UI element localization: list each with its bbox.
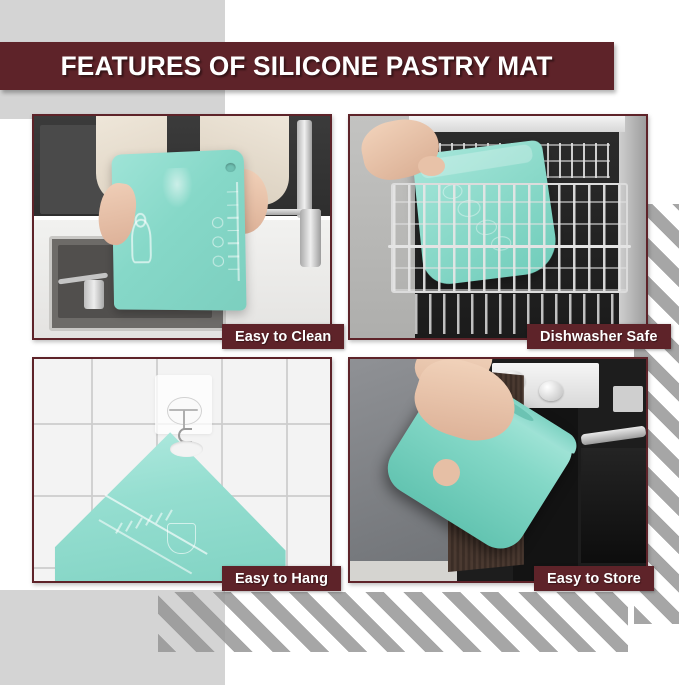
feature-card-easy-to-hang xyxy=(32,357,332,583)
infographic-canvas: FEATURES OF SILICONE PASTRY MAT xyxy=(0,0,679,685)
caption-easy-to-clean: Easy to Clean xyxy=(222,324,344,349)
bottom-diagonal-stripes xyxy=(158,592,628,652)
title-banner: FEATURES OF SILICONE PASTRY MAT xyxy=(0,42,614,90)
page-title: FEATURES OF SILICONE PASTRY MAT xyxy=(61,51,553,82)
photo-easy-to-hang xyxy=(34,359,330,581)
feature-card-easy-to-clean xyxy=(32,114,332,340)
photo-easy-to-clean xyxy=(34,116,330,338)
caption-easy-to-hang: Easy to Hang xyxy=(222,566,341,591)
caption-dishwasher-safe: Dishwasher Safe xyxy=(527,324,671,349)
caption-easy-to-store: Easy to Store xyxy=(534,566,654,591)
feature-card-easy-to-store xyxy=(348,357,648,583)
photo-dishwasher-safe xyxy=(350,116,646,338)
photo-easy-to-store xyxy=(350,359,646,581)
feature-card-dishwasher-safe xyxy=(348,114,648,340)
